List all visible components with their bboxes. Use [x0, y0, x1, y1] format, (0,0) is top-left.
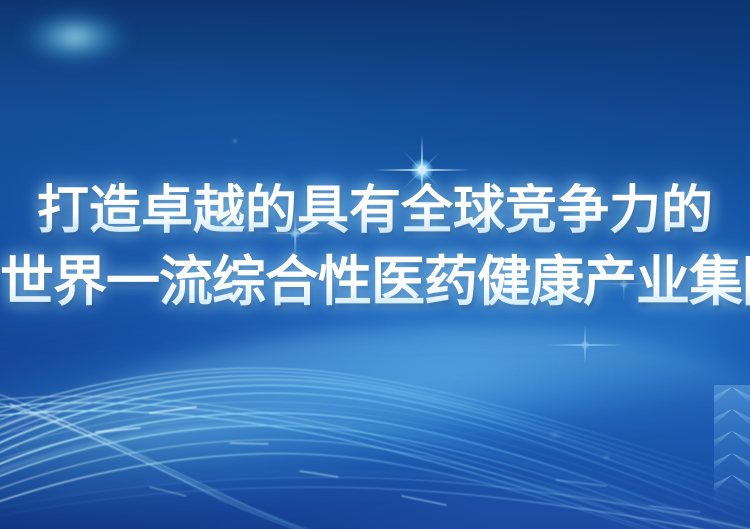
headline-line-2: 世界一流综合性医药健康产业集团 世界一流综合性医药健康产业集团	[0, 253, 750, 311]
bokeh-dot	[602, 455, 611, 460]
upward-chevron-stack	[714, 385, 750, 505]
headline-line-1-text: 打造卓越的具有全球竞争力的	[0, 183, 750, 239]
bokeh-dot	[548, 432, 562, 438]
ribbon-origin-glow	[0, 0, 150, 74]
bokeh-dot	[232, 138, 238, 144]
headline-line-2-text: 世界一流综合性医药健康产业集团	[0, 253, 750, 311]
chevron-backing-slab	[714, 385, 750, 505]
banner-canvas: 打造卓越的具有全球竞争力的 打造卓越的具有全球竞争力的 世界一流综合性医药健康产…	[0, 0, 750, 529]
headline-line-1: 打造卓越的具有全球竞争力的 打造卓越的具有全球竞争力的	[0, 183, 750, 239]
